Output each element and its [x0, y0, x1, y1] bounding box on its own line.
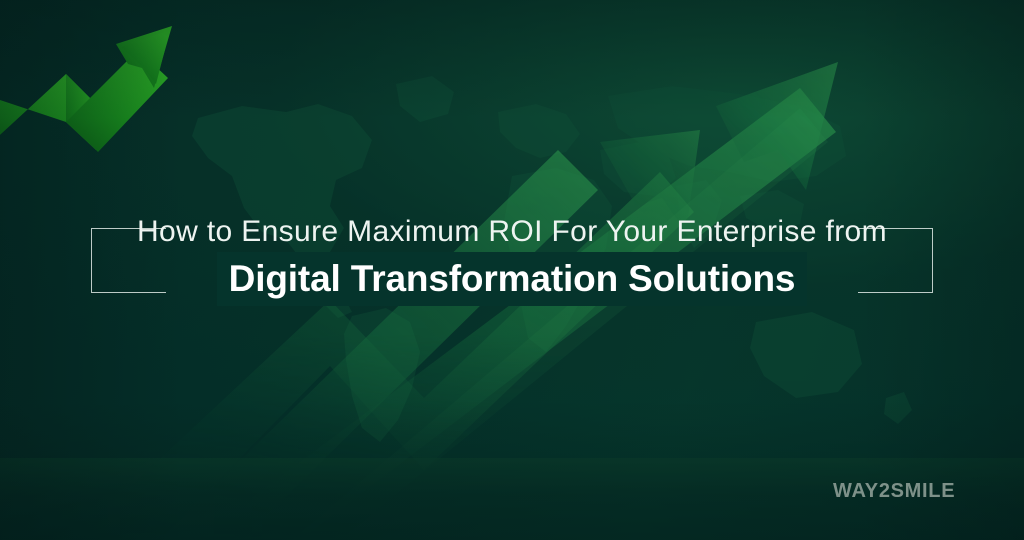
- banner: How to Ensure Maximum ROI For Your Enter…: [0, 0, 1024, 540]
- way2smile-logo: WAY2SMILE: [833, 480, 955, 503]
- headline-title-row: Digital Transformation Solutions: [0, 252, 1024, 314]
- headline-block: How to Ensure Maximum ROI For Your Enter…: [0, 212, 1024, 307]
- headline-subtitle: How to Ensure Maximum ROI For Your Enter…: [0, 212, 1024, 252]
- headline-title: Digital Transformation Solutions: [217, 252, 808, 306]
